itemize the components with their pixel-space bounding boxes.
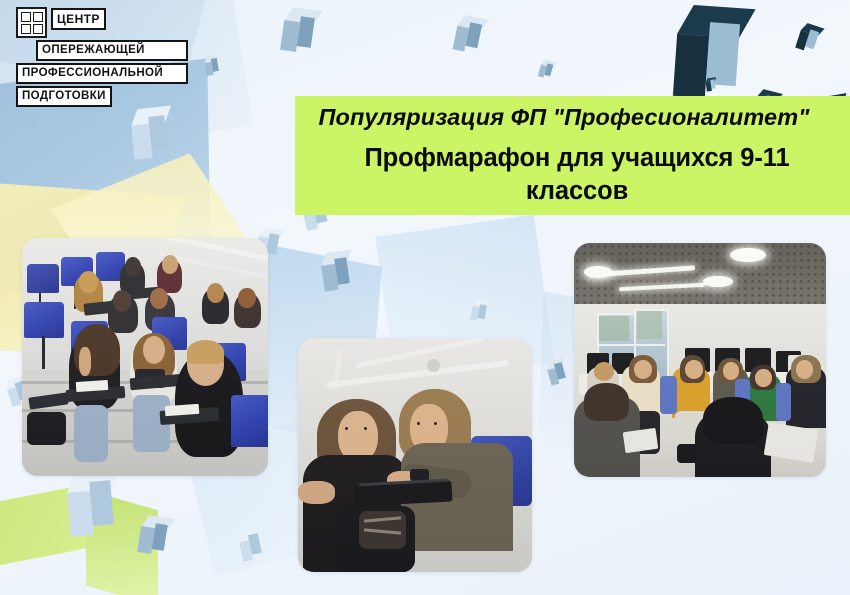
p2-left-hand — [298, 481, 335, 504]
p1-chair — [24, 302, 63, 338]
p1-person-head — [207, 283, 224, 303]
p3-student-head — [796, 360, 814, 379]
p3-front-hair — [703, 397, 763, 444]
p1-person-head — [79, 271, 99, 292]
floating-cube — [705, 77, 716, 91]
p1-hair — [187, 340, 224, 364]
banner-subtitle: Популяризация ФП "Професионалитет" — [313, 103, 841, 132]
logo-line-4: ПОДГОТОВКИ — [16, 86, 112, 107]
p3-window-mullion — [597, 344, 665, 346]
monogram-cell-4 — [33, 24, 43, 34]
p3-chair — [776, 383, 791, 420]
poster-canvas: ЦЕНТР ОПЕРЕЖАЮЩЕЙ ПРОФЕССИОНАЛЬНОЙ ПОДГО… — [0, 0, 850, 595]
p2-left-eye — [345, 427, 348, 430]
p1-person-head — [143, 336, 165, 365]
p1-chair-leg — [42, 336, 45, 369]
photo-2-scene — [298, 338, 532, 572]
title-banner: Популяризация ФП "Професионалитет" Профм… — [295, 96, 850, 215]
p3-front-hair — [584, 383, 629, 420]
p3-ceiling-light — [730, 248, 765, 262]
logo-line-1: ЦЕНТР — [51, 8, 106, 30]
p3-chair — [660, 376, 678, 413]
p3-ceiling-light — [584, 266, 612, 278]
p3-window-trees — [599, 316, 629, 342]
p3-student-head — [634, 360, 652, 379]
floating-cube — [319, 250, 350, 292]
copp-logo: ЦЕНТР ОПЕРЕЖАЮЩЕЙ ПРОФЕССИОНАЛЬНОЙ ПОДГО… — [16, 7, 188, 107]
p1-person-head — [162, 255, 178, 274]
p1-bag — [27, 412, 66, 445]
floating-cube — [129, 106, 168, 160]
p3-student-head — [723, 362, 739, 380]
p1-jeans — [74, 405, 108, 462]
monogram-cell-3 — [21, 24, 31, 34]
p2-left-eye — [364, 427, 367, 430]
cube-face-right — [89, 480, 114, 526]
floating-cube — [280, 6, 316, 54]
p3-window-trees — [637, 311, 662, 339]
p2-lamp — [427, 359, 440, 372]
p1-person-head — [238, 288, 255, 308]
p1-paper — [76, 380, 109, 392]
monogram-cell-2 — [33, 12, 43, 22]
photo-1-scene — [22, 238, 268, 476]
photo-lecture-hall — [22, 238, 268, 476]
p1-face — [79, 347, 91, 376]
copp-monogram-icon — [16, 7, 47, 38]
p3-paper — [763, 422, 818, 462]
banner-title: Профмарафон для учащихся 9-11 классов — [313, 142, 841, 208]
cube-face-left — [673, 34, 709, 98]
floating-cube — [65, 468, 115, 537]
p3-student-head — [755, 369, 771, 387]
p2-right-eye — [434, 422, 437, 425]
floating-cube — [203, 55, 219, 76]
photo-two-students — [298, 338, 532, 572]
p1-chair — [231, 395, 268, 447]
p1-paper — [164, 403, 199, 415]
p3-student-head — [685, 360, 703, 379]
monogram-cell-1 — [21, 12, 31, 22]
photo-group-discussion — [574, 243, 826, 477]
cube-face-right — [148, 115, 168, 151]
logo-line-2: ОПЕРЕЖАЮЩЕЙ — [36, 40, 188, 61]
logo-line-3: ПРОФЕССИОНАЛЬНОЙ — [16, 63, 188, 84]
photo-3-scene — [574, 243, 826, 477]
p1-chair — [27, 264, 59, 293]
